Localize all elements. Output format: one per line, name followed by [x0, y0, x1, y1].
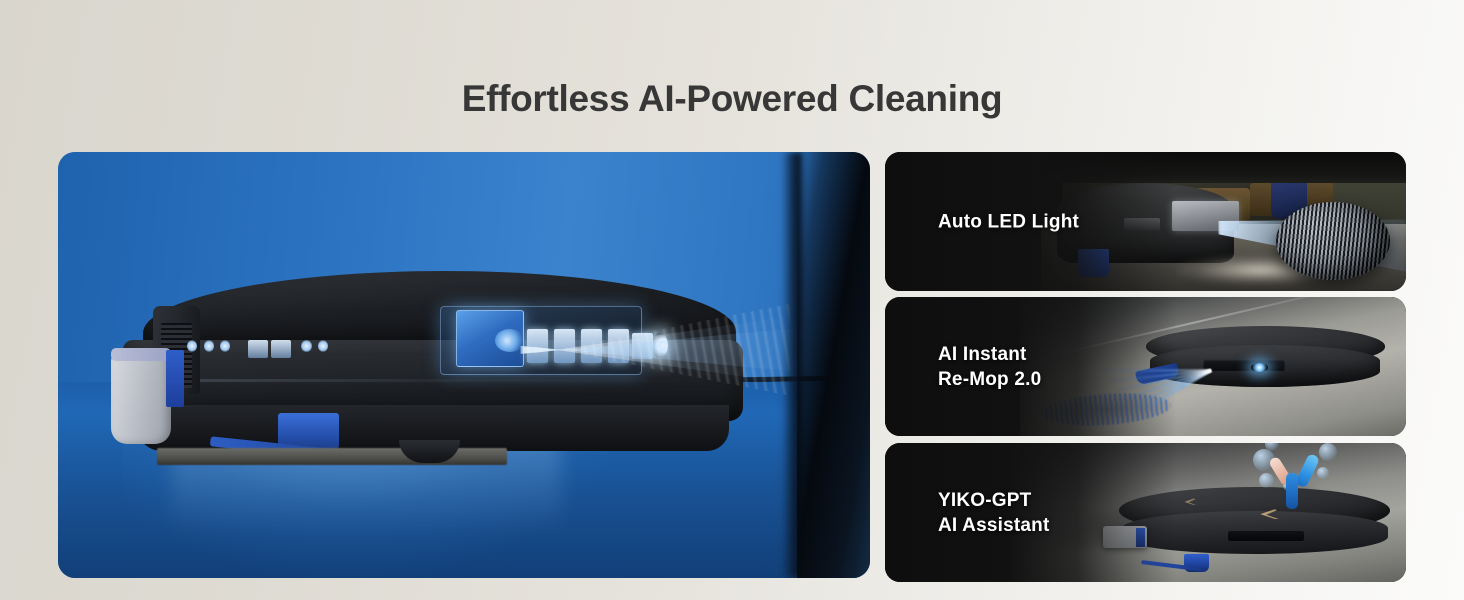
feature-label-yiko-gpt-ai-assistant: YIKO-GPT AI Assistant [938, 488, 1050, 538]
led-optic-1 [527, 329, 548, 364]
feature-label-ai-instant-re-mop: AI Instant Re-Mop 2.0 [938, 342, 1041, 392]
robot-side-module-cap [111, 348, 172, 361]
hero-right-dark-panel [797, 152, 870, 578]
feature-card-yiko-gpt-ai-assistant[interactable]: YIKO-GPT AI Assistant [885, 443, 1406, 582]
yiko-logo-stem [1286, 473, 1298, 509]
feature-card-auto-led-light[interactable]: Auto LED Light [885, 152, 1406, 291]
led-module-chip [456, 310, 523, 368]
yiko-robot-sensor-slot [1228, 531, 1304, 541]
sensor-lens-3 [220, 340, 230, 352]
striped-ball [1276, 202, 1391, 280]
mop-robot-sensor-slot [1203, 359, 1284, 371]
feature-label-auto-led-light: Auto LED Light [938, 209, 1079, 234]
page-title: Effortless AI-Powered Cleaning [0, 76, 1464, 122]
robot-side-module-accent [166, 350, 184, 408]
robot-side-module [111, 352, 172, 444]
led-optic-2 [554, 329, 575, 364]
robot-bumper-line [136, 379, 702, 382]
sensor-lens-1 [187, 340, 197, 352]
sensor-lens-5 [271, 340, 291, 357]
feature-card-ai-instant-re-mop[interactable]: AI Instant Re-Mop 2.0 [885, 297, 1406, 436]
hero-image-robot-vacuum-led [58, 152, 870, 578]
sensor-lens-6 [301, 340, 311, 352]
feature-banner: Effortless AI-Powered Cleaning [0, 0, 1464, 600]
mop-robot-led-dot [1251, 363, 1268, 372]
hero-robot-vacuum [103, 271, 777, 463]
sensor-lens-2 [204, 340, 214, 352]
yiko-assistant-logo-icon [1267, 449, 1323, 511]
sensor-lens-4 [248, 340, 268, 357]
